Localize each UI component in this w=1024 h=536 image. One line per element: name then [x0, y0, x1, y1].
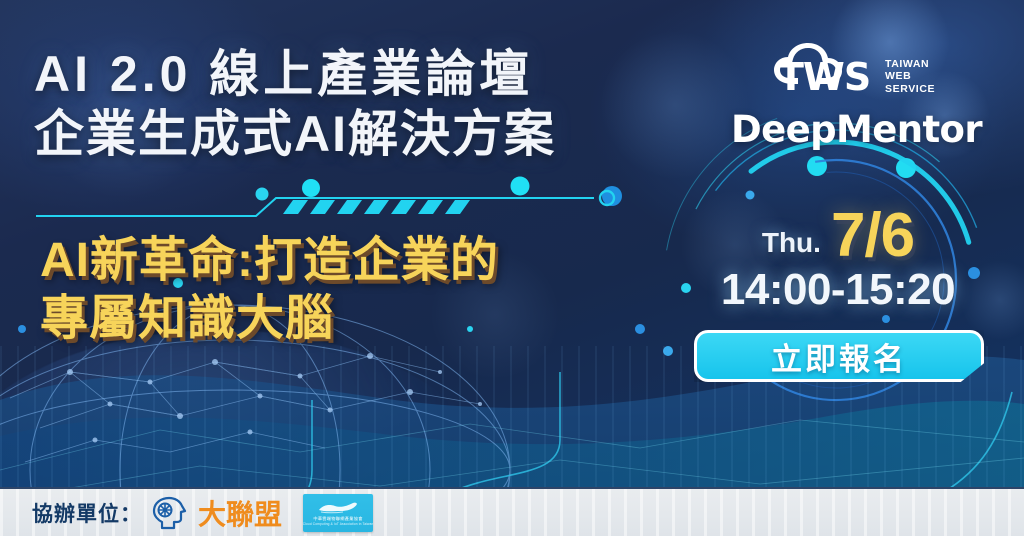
register-button[interactable]: 立即報名 [694, 330, 984, 382]
tws-cloud-mark: TWS [770, 40, 878, 98]
tws-logo: TWS TAIWAN WEB SERVICE [770, 40, 935, 98]
headline-line-2: 企業生成式AI解決方案 [34, 104, 674, 164]
association-logo: 中華雲端物聯網產業協會 Cloud Computing & IoT Associ… [303, 494, 373, 532]
date-row: Thu. 7/6 [688, 205, 988, 267]
association-name-en: Cloud Computing & IoT Association in Tai… [303, 522, 374, 526]
day-of-week: Thu. [762, 226, 821, 267]
deepmentor-wordmark: DeepMentor [731, 108, 982, 151]
cohost-label: 協辦單位： [32, 498, 142, 528]
tws-tagline: TAIWAN WEB SERVICE [885, 58, 935, 99]
alliance-name: 大聯盟 [198, 493, 282, 533]
divider-decoration [34, 188, 634, 224]
association-name-zh: 中華雲端物聯網產業協會 [313, 516, 362, 521]
footer-content: 協辦單位： 大聯盟 中華雲端物聯網產業協會 Cloud Computing & … [0, 493, 373, 533]
tws-tagline-line-3: SERVICE [885, 83, 935, 96]
tws-tagline-line-1: TAIWAN [885, 58, 935, 71]
event-time: 14:00-15:20 [688, 265, 988, 315]
schedule-block: Thu. 7/6 14:00-15:20 [688, 205, 988, 315]
headline-block: AI 2.0 線上產業論壇 企業生成式AI解決方案 [34, 44, 674, 164]
subheadline-line-1: AI新革命:打造企業的 [40, 232, 660, 290]
webinar-banner: AI 2.0 線上產業論壇 企業生成式AI解決方案 AI新革命:打造企業的 專屬… [0, 0, 1024, 536]
subheadline-block: AI新革命:打造企業的 專屬知識大腦 [40, 232, 660, 348]
footer-bar: 協辦單位： 大聯盟 中華雲端物聯網產業協會 Cloud Computing & … [0, 487, 1024, 536]
head-gear-icon [149, 495, 189, 531]
tws-tagline-line-2: WEB [885, 70, 935, 83]
subheadline-line-2: 專屬知識大腦 [40, 290, 660, 348]
register-button-label: 立即報名 [771, 334, 907, 379]
association-map-icon [315, 500, 361, 515]
headline-line-1: AI 2.0 線上產業論壇 [34, 44, 674, 104]
event-date: 7/6 [831, 205, 914, 267]
tws-wordmark: TWS [778, 58, 870, 96]
